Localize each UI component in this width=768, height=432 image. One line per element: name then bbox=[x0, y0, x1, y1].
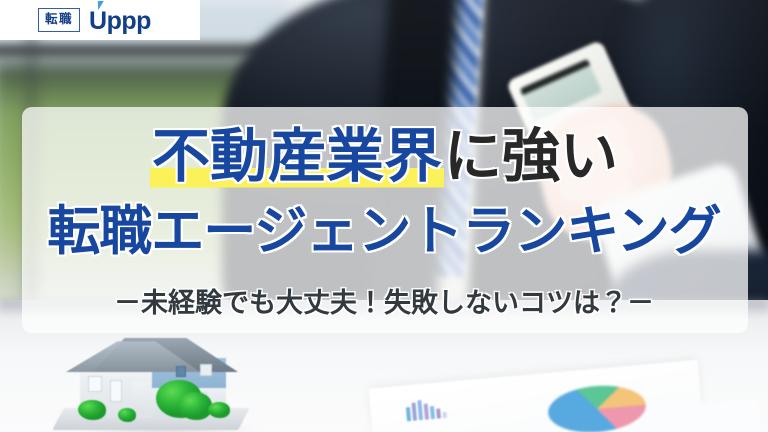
site-logo[interactable]: 転職 Uppp bbox=[0, 0, 200, 40]
article-hero-banner: 不動産業界に強い 転職エージェントランキング －未経験でも大丈夫！失敗しないコツ… bbox=[0, 0, 768, 432]
house-tree bbox=[208, 402, 230, 418]
house-tree bbox=[78, 400, 106, 420]
headline-subtitle: －未経験でも大丈夫！失敗しないコツは？－ bbox=[0, 290, 768, 317]
headline-line-2: 転職エージェントランキング bbox=[0, 205, 768, 258]
headline-rest-text: に強い bbox=[444, 124, 618, 189]
logo-wordmark-text: Uppp bbox=[89, 7, 151, 35]
house-tree bbox=[178, 392, 212, 420]
house-window bbox=[110, 380, 122, 402]
miniature-house-model bbox=[58, 336, 248, 432]
house-door bbox=[132, 382, 150, 414]
logo-wordmark: Uppp bbox=[89, 7, 151, 34]
house-window bbox=[88, 376, 102, 392]
flag-accent-icon bbox=[98, 0, 104, 9]
house-window bbox=[176, 366, 186, 377]
headline-highlight-text: 不動産業界 bbox=[150, 124, 444, 189]
house-tree bbox=[118, 408, 136, 422]
headline-line-1: 不動産業界に強い bbox=[0, 128, 768, 186]
logo-badge-tenshoku: 転職 bbox=[38, 8, 80, 32]
house-window bbox=[200, 364, 212, 376]
